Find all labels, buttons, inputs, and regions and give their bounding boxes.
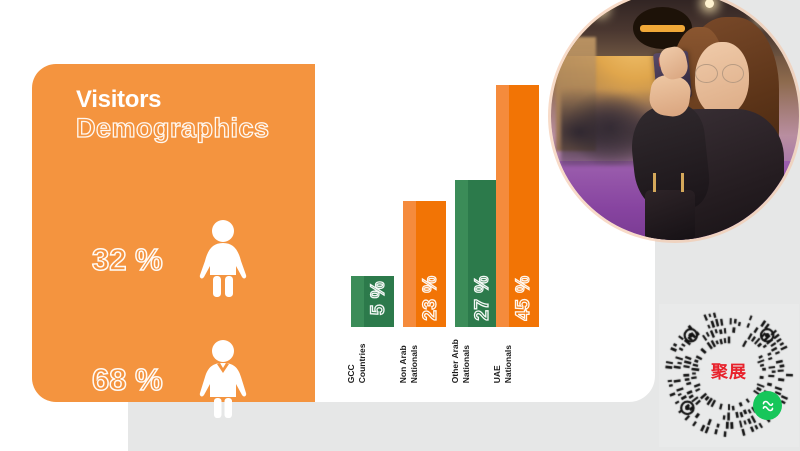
male-percentage: 68 % [92, 364, 188, 395]
chart-axis-labels: GCCCountries Non ArabNationals Other Ara… [345, 327, 550, 385]
bar-uae-nationals: 45 % [496, 85, 539, 327]
bar-other-arab-nationals: 27 % [455, 180, 498, 327]
female-figure-icon [188, 219, 258, 299]
chart-bars: 5 % 23 % 27 % 45 % [345, 85, 550, 327]
demographic-row-male: 68 % [92, 339, 292, 419]
card-subtitle: Demographics [76, 115, 270, 142]
bar-gcc-countries: 5 % [351, 276, 394, 327]
qr-brand-text: 聚展 [711, 357, 747, 382]
axis-label-other-arab-nationals: Other ArabNationals [450, 339, 471, 383]
bar-side-face [403, 201, 416, 327]
slide-canvas: Visitors Demographics 32 % 68 % [0, 0, 800, 451]
male-figure-icon [188, 339, 258, 419]
demographic-row-female: 32 % [92, 219, 292, 299]
axis-label-non-arab-nationals: Non ArabNationals [398, 345, 419, 383]
axis-label-gcc-countries: GCCCountries [346, 343, 367, 383]
bar-side-face [455, 180, 468, 327]
bar-front-face: 23 % [416, 201, 446, 327]
bar-value-label: 23 % [420, 275, 442, 320]
visitor-origin-bar-chart: 5 % 23 % 27 % 45 % [345, 85, 550, 385]
bar-front-face: 45 % [509, 85, 539, 327]
wechat-mini-program-icon [753, 391, 782, 420]
visitors-demographics-card: Visitors Demographics 32 % 68 % [32, 64, 315, 402]
wechat-qr-code[interactable]: 聚展 [659, 304, 799, 447]
female-percentage: 32 % [92, 244, 188, 275]
bar-front-face: 27 % [468, 180, 498, 327]
bar-value-label: 27 % [472, 275, 494, 320]
bar-front-face: 5 % [364, 276, 394, 327]
bar-non-arab-nationals: 23 % [403, 201, 446, 327]
card-title: Visitors [76, 88, 161, 112]
visitor-photo [551, 0, 799, 240]
axis-label-uae-nationals: UAENationals [492, 345, 513, 383]
bar-value-label: 45 % [513, 275, 535, 320]
bar-side-face [496, 85, 509, 327]
bar-value-label: 5 % [368, 281, 390, 315]
bar-side-face [351, 276, 364, 327]
